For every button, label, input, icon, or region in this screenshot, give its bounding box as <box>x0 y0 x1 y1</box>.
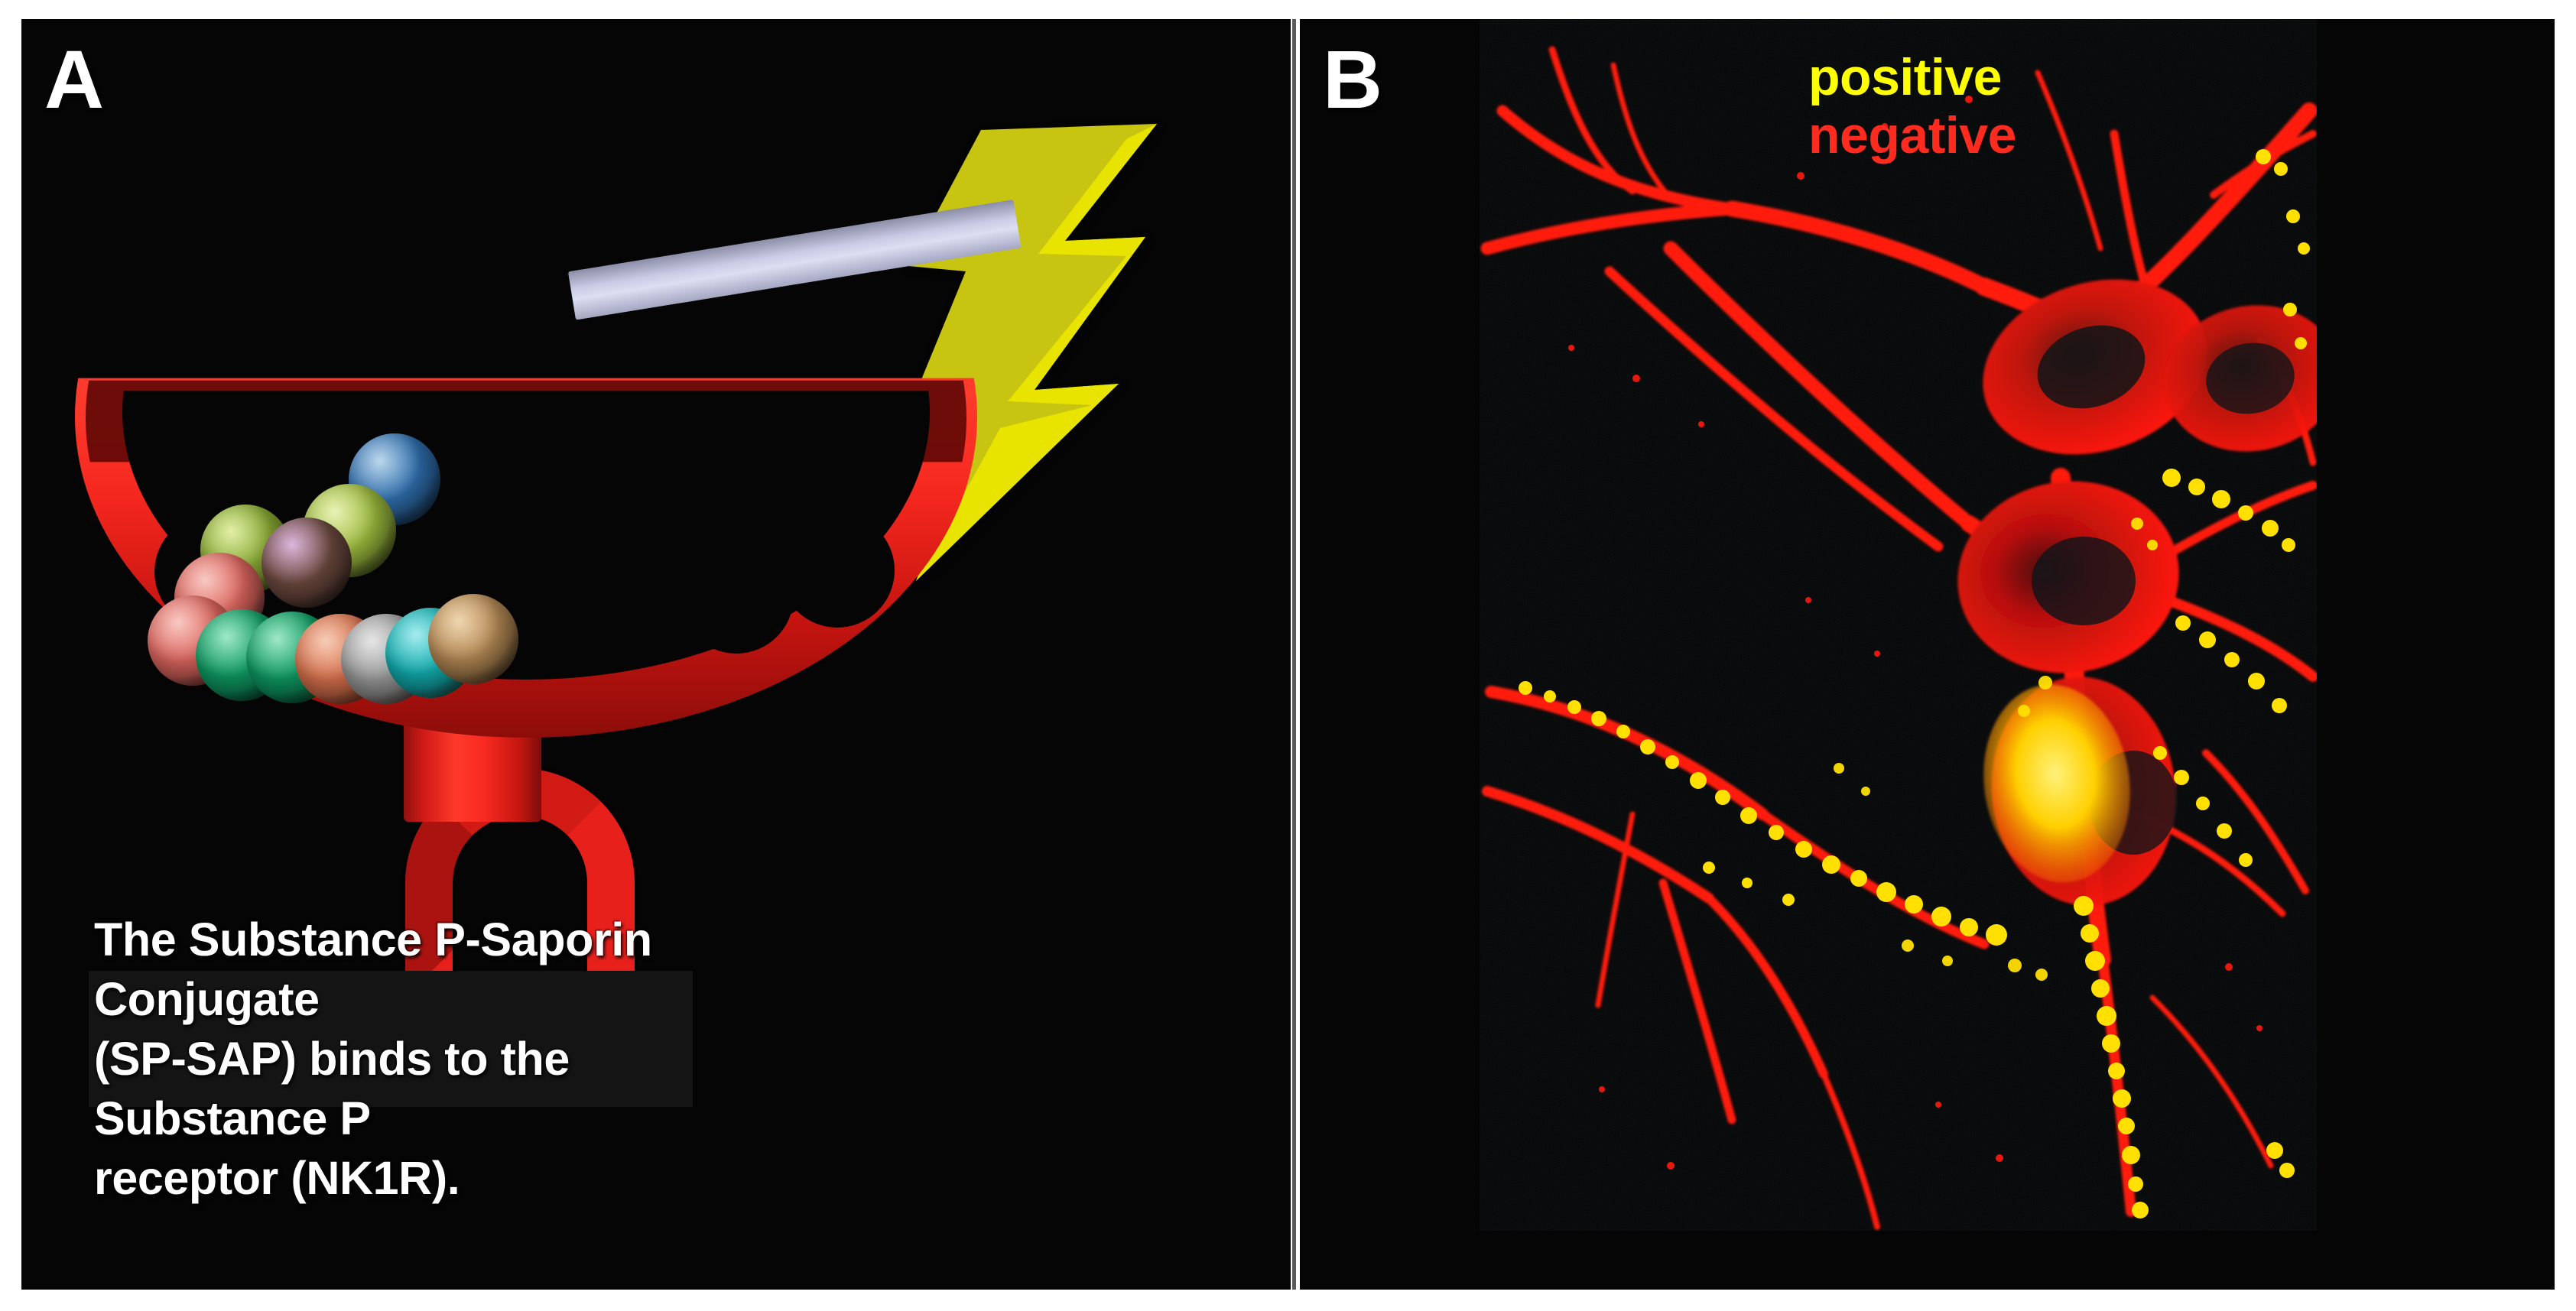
caption-line-2: (SP-SAP) binds to the Substance P <box>94 1029 775 1148</box>
micrograph-legend: positive negative <box>1808 48 2016 164</box>
figure-root: A <box>0 0 2576 1311</box>
panel-b: B <box>1300 19 2555 1290</box>
panel-divider <box>1292 19 1296 1290</box>
caption-line-3: receptor (NK1R). <box>94 1148 775 1208</box>
cup-scallop <box>679 539 794 654</box>
panel-b-label: B <box>1323 38 1382 121</box>
cup-scallop <box>780 513 895 628</box>
panel-a: A <box>21 19 1291 1290</box>
panel-a-label: A <box>44 38 103 121</box>
bead-tan <box>428 594 518 684</box>
cup-scallop <box>575 554 690 669</box>
confocal-micrograph <box>1480 19 2317 1231</box>
legend-positive-label: positive <box>1808 48 2016 106</box>
panel-a-caption: The Substance P-Saporin Conjugate (SP-SA… <box>94 910 775 1208</box>
legend-negative-label: negative <box>1808 106 2016 164</box>
bead-purplebrown <box>261 518 352 608</box>
caption-line-1: The Substance P-Saporin Conjugate <box>94 910 775 1029</box>
